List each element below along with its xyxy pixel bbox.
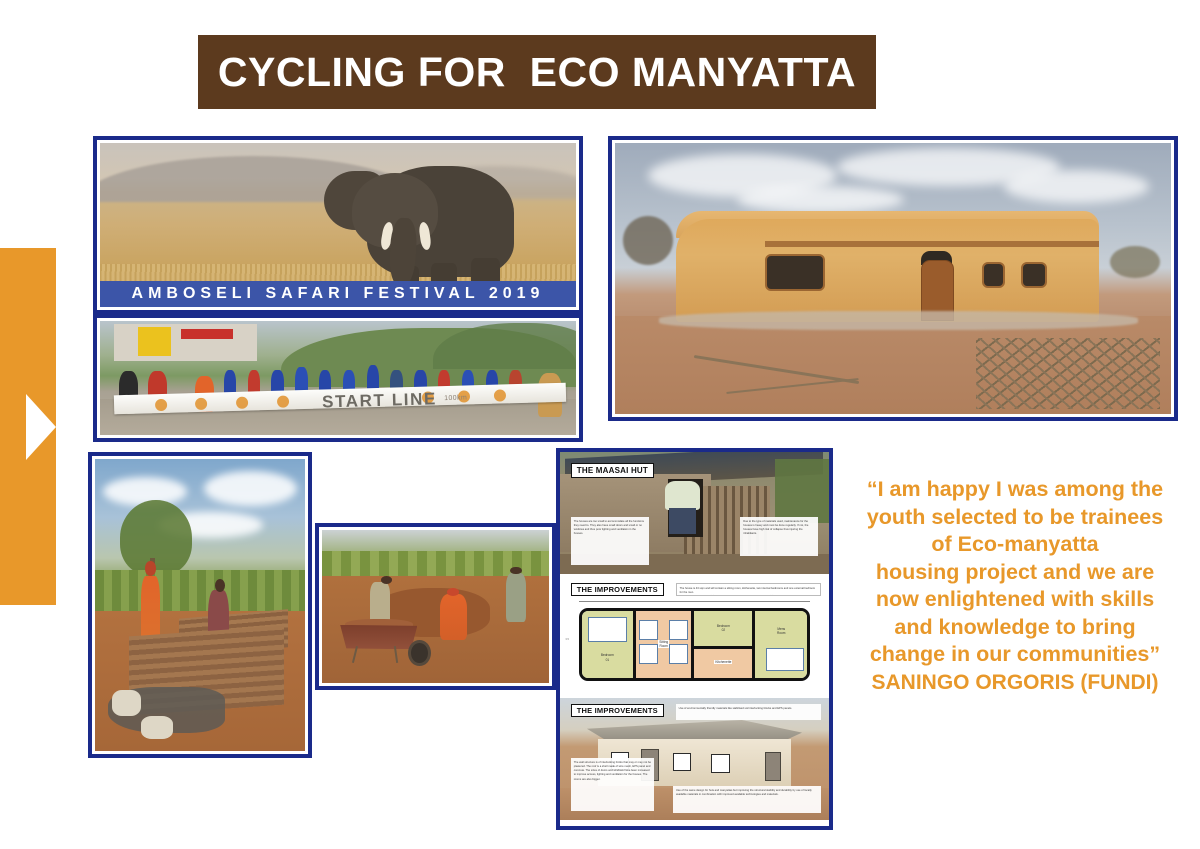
- infographic-section-floor-plan: THE IMPROVEMENTS The house is 43 sqm and…: [560, 577, 829, 695]
- house-note-left: The wall structure is of interlocking br…: [571, 758, 654, 812]
- cloud: [1004, 170, 1149, 203]
- dimension-label-depth: 3.5: [565, 638, 569, 641]
- section-label-improvements-plan: THE IMPROVEMENTS: [571, 583, 664, 596]
- room-label: Bedroom 01: [601, 653, 614, 661]
- house-note-bottom: Use of the same design for huts and many…: [673, 786, 821, 813]
- roof-eave: [765, 241, 1099, 248]
- hut-note-left: The houses are too small to accommodate …: [571, 517, 649, 566]
- room-label: Kitchenette: [714, 660, 732, 664]
- thorn-branch-pile: [976, 338, 1159, 408]
- wheelbarrow-photo: [322, 530, 549, 683]
- title-banner: CYCLING FOR ECO MANYATTA: [198, 35, 876, 109]
- cyclists-photo: START LINE 100km: [100, 321, 576, 435]
- infographic-section-maasai-hut: THE MAASAI HUT The houses are too small …: [560, 452, 829, 574]
- infographic-section-improved-house: THE IMPROVEMENTS Use of environmentally …: [560, 698, 829, 820]
- hut-note-right: Due to the type of materials used, maint…: [740, 517, 818, 556]
- ribbon-logo: [196, 399, 208, 411]
- tree: [623, 216, 673, 265]
- room-kitchenette: Kitchenette: [694, 647, 752, 678]
- cloud: [737, 186, 904, 213]
- room-group-bedroom02-kitchenette: Bedroom 02 Kitchenette: [694, 611, 755, 678]
- house-window: [1021, 262, 1047, 288]
- room-bedroom-01: Bedroom 01: [582, 611, 636, 678]
- ribbon-logo: [155, 400, 167, 412]
- bed-furniture: [766, 648, 804, 671]
- start-line-text: START LINE: [322, 389, 437, 412]
- festival-caption: AMBOSELI SAFARI FESTIVAL 2019: [132, 285, 545, 303]
- house-window: [711, 754, 730, 773]
- photo-frame-bricks: [88, 452, 312, 758]
- room-mens: Mens Room: [755, 611, 807, 678]
- cloud: [204, 471, 296, 506]
- photo-frame-cyclists: START LINE 100km: [93, 314, 583, 442]
- acacia-tree: [120, 500, 191, 576]
- photo-inner: AMBOSELI SAFARI FESTIVAL 2019: [97, 140, 579, 310]
- photo-inner: START LINE 100km: [97, 318, 579, 438]
- photo-inner: [612, 140, 1174, 417]
- ribbon-logo: [494, 390, 506, 402]
- photo-frame-wheelbarrow: [315, 523, 556, 690]
- red-sign: [181, 329, 233, 339]
- tree: [1110, 246, 1160, 279]
- festival-caption-bar: AMBOSELI SAFARI FESTIVAL 2019: [100, 281, 576, 307]
- infographic-panel: THE MAASAI HUT The houses are too small …: [556, 448, 833, 830]
- eco-house-photo: [615, 143, 1171, 414]
- worker-standing: [506, 573, 526, 622]
- sofa-furniture: [639, 620, 658, 639]
- house-window: [673, 753, 691, 771]
- vegetation: [775, 459, 829, 522]
- start-line-subtext: 100km: [444, 395, 467, 403]
- ribbon-logo: [236, 397, 248, 409]
- head-scarf: [447, 588, 459, 596]
- photo-inner: [319, 527, 552, 686]
- chevron-left-icon: [26, 394, 56, 460]
- page-title: CYCLING FOR ECO MANYATTA: [218, 49, 856, 96]
- sofa-furniture: [669, 644, 688, 663]
- path: [659, 311, 1137, 330]
- house-note-top: Use of environmentally friendly material…: [676, 704, 821, 720]
- house-window: [982, 262, 1005, 288]
- plan-note: The house is 43 sqm and will contain a s…: [676, 583, 821, 596]
- head-scarf: [145, 561, 156, 576]
- person-trousers: [669, 508, 696, 534]
- elephant-photo: AMBOSELI SAFARI FESTIVAL 2019: [100, 143, 576, 307]
- section-label-maasai-hut: THE MAASAI HUT: [571, 463, 654, 478]
- infographic-inner: THE MAASAI HUT The houses are too small …: [560, 452, 829, 826]
- photo-frame-eco-house: [608, 136, 1178, 421]
- dimension-line-top: [579, 601, 810, 602]
- bricks-photo: [95, 459, 305, 751]
- photo-inner: [92, 456, 308, 754]
- worker-shovelling: [440, 594, 467, 640]
- house-window: [765, 254, 825, 291]
- sofa-furniture: [639, 644, 658, 663]
- person-shirt: [665, 481, 700, 510]
- wheelbarrow-tray: [340, 625, 417, 649]
- yellow-sign: [138, 327, 171, 357]
- room-sitting: Sitting Room: [636, 611, 695, 678]
- room-label: Bedroom 02: [717, 624, 730, 632]
- section-label-improvements-house: THE IMPROVEMENTS: [571, 704, 664, 717]
- wheelbarrow-wheel: [408, 640, 431, 666]
- photo-frame-elephant: AMBOSELI SAFARI FESTIVAL 2019: [93, 136, 583, 314]
- person-head: [381, 576, 392, 584]
- ribbon-logo: [277, 396, 289, 408]
- person-entering-hut: [665, 481, 700, 537]
- testimonial-quote: “I am happy I was among the youth select…: [845, 476, 1185, 669]
- sack: [141, 716, 173, 739]
- bed-furniture: [588, 617, 627, 642]
- floor-plan: Bedroom 01 Sitting Room Bedroom 02 Kitch…: [579, 608, 810, 681]
- room-label: Sitting Room: [658, 640, 669, 648]
- room-bedroom-02: Bedroom 02: [694, 611, 752, 649]
- person-head: [510, 567, 521, 575]
- room-label: Mens Room: [777, 627, 786, 635]
- house-door: [765, 752, 780, 781]
- sack: [112, 690, 141, 716]
- sofa-furniture: [669, 620, 688, 639]
- testimonial-author: SANINGO ORGORIS (FUNDI): [845, 671, 1185, 695]
- testimonial-block: “I am happy I was among the youth select…: [845, 476, 1185, 695]
